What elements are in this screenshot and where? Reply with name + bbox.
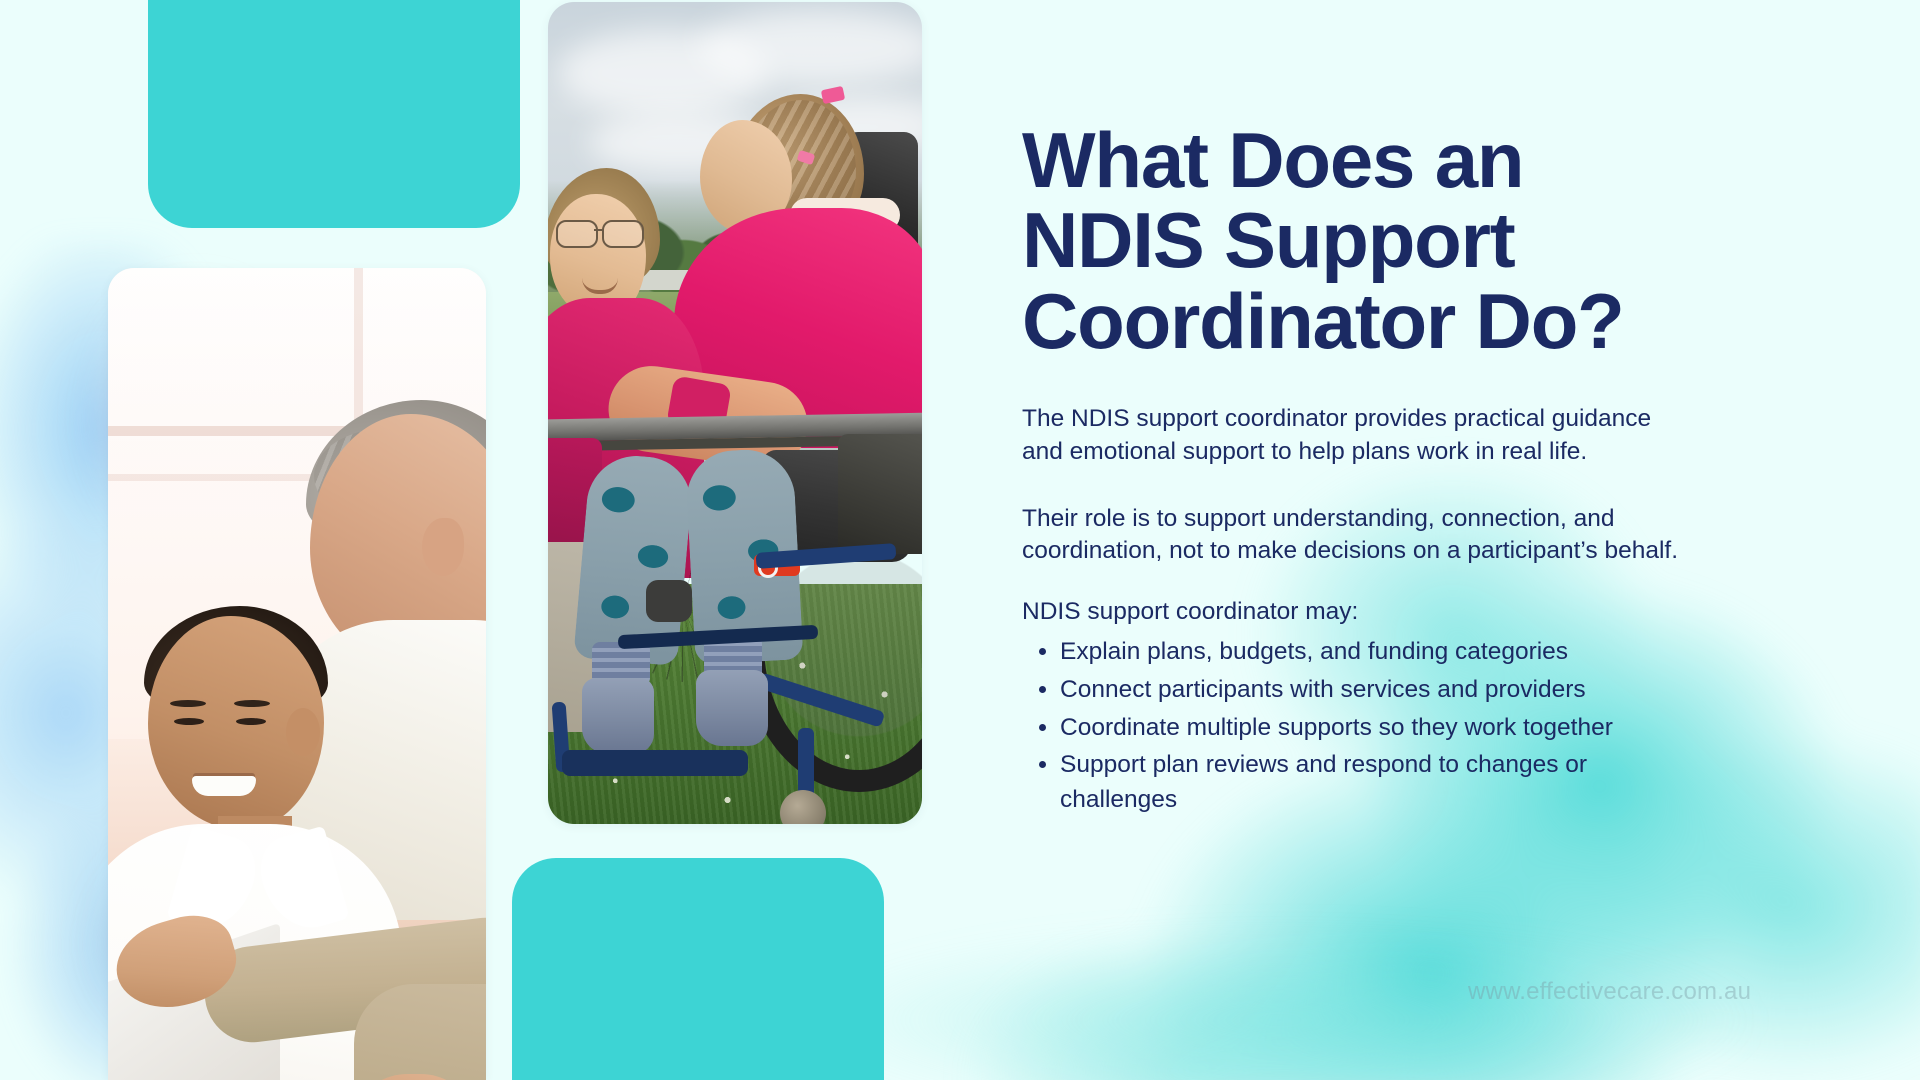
photo-carer-and-participant: [548, 2, 922, 824]
list-item: Support plan reviews and respond to chan…: [1060, 748, 1700, 818]
page-title: What Does an NDIS Support Coordinator Do…: [1022, 120, 1852, 361]
list-intro-label: NDIS support coordinator may:: [1022, 596, 1852, 629]
teal-block-bottom: [512, 858, 884, 1080]
responsibilities-list: Explain plans, budgets, and funding cate…: [1022, 635, 1852, 818]
paragraph-role-boundaries: Their role is to support understanding, …: [1022, 503, 1722, 569]
photo-consultation: [108, 268, 486, 1080]
photo-carer-and-participant-art: [548, 2, 922, 824]
list-item: Explain plans, budgets, and funding cate…: [1060, 635, 1700, 670]
list-item: Connect participants with services and p…: [1060, 673, 1700, 708]
list-item: Coordinate multiple supports so they wor…: [1060, 711, 1700, 746]
paragraph-role-overview: The NDIS support coordinator provides pr…: [1022, 403, 1722, 469]
poster-canvas: What Does an NDIS Support Coordinator Do…: [0, 0, 1920, 1080]
photo-consultation-art: [108, 268, 486, 1080]
website-watermark: www.effectivecare.com.au: [1468, 978, 1751, 1006]
teal-block-top: [148, 0, 520, 228]
content-column: What Does an NDIS Support Coordinator Do…: [1022, 120, 1852, 821]
body-copy: The NDIS support coordinator provides pr…: [1022, 403, 1852, 818]
